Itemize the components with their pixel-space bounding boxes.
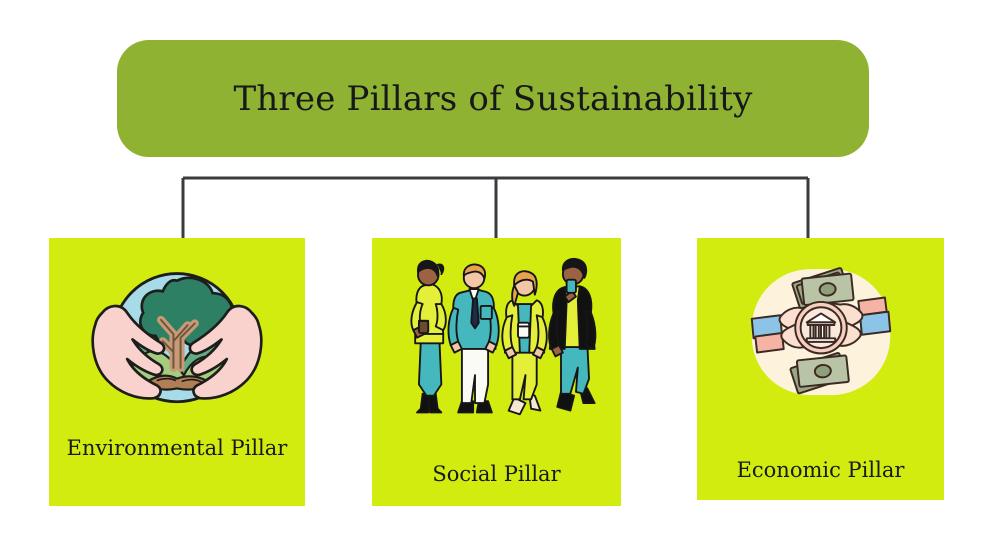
hands-exchanging-money-icon: [697, 238, 944, 418]
pillar-card-social[interactable]: Social Pillar: [372, 238, 621, 506]
pillar-card-economic[interactable]: Economic Pillar: [697, 238, 944, 500]
pillar-card-environmental[interactable]: Environmental Pillar: [49, 238, 305, 506]
hands-holding-tree-icon: [49, 238, 305, 426]
pillar-label-economic: Economic Pillar: [712, 456, 929, 484]
pillar-label-social: Social Pillar: [387, 460, 606, 488]
page-title: Three Pillars of Sustainability: [233, 82, 752, 116]
diagram-canvas: Three Pillars of Sustainability: [0, 0, 986, 560]
four-people-walking-icon: [372, 238, 621, 426]
diagram-title-banner: Three Pillars of Sustainability: [117, 40, 869, 157]
pillar-label-environmental: Environmental Pillar: [64, 434, 289, 462]
